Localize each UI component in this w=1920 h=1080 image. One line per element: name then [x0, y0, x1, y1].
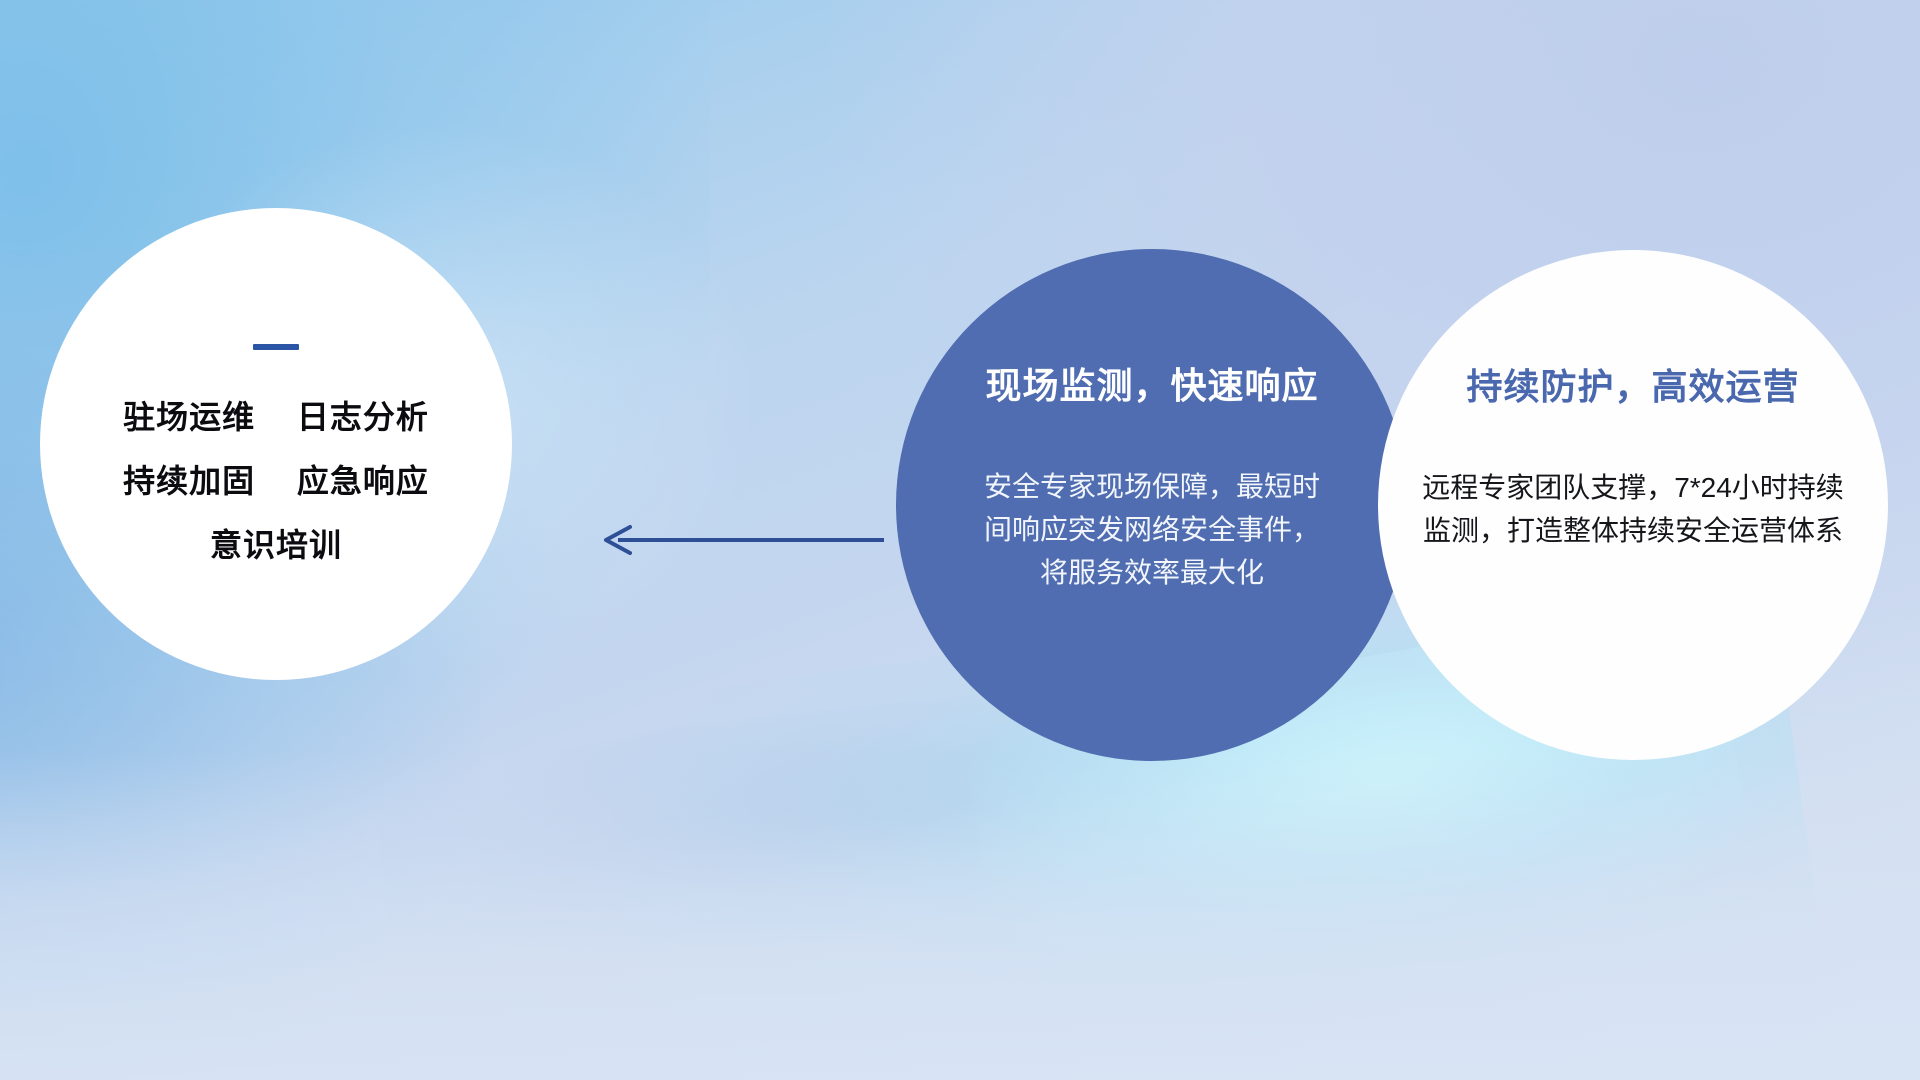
list-item: 意识培训: [210, 520, 342, 566]
short-horizontal-rule-icon: [253, 344, 299, 350]
capability-label: 驻场运维: [123, 399, 255, 435]
background-bottom-fade: [0, 750, 1920, 1080]
left-circle-capability-list: 驻场运维 日志分析 持续加固 应急响应 意识培训: [40, 392, 512, 566]
capability-label: 持续加固: [123, 463, 255, 499]
arrow-left-icon: [596, 522, 884, 558]
capability-label: 意识培训: [210, 527, 342, 563]
list-item: 驻场运维 日志分析: [123, 392, 429, 438]
middle-circle-body: 安全专家现场保障，最短时间响应突发网络安全事件，将服务效率最大化: [982, 465, 1322, 594]
capability-label: 应急响应: [297, 463, 429, 499]
capability-label: 日志分析: [297, 399, 429, 435]
middle-circle-title: 现场监测，快速响应: [985, 357, 1318, 409]
right-circle-body: 远程专家团队支撑，7*24小时持续监测，打造整体持续安全运营体系: [1417, 466, 1849, 552]
middle-circle-content: 现场监测，快速响应 安全专家现场保障，最短时间响应突发网络安全事件，将服务效率最…: [896, 249, 1408, 761]
left-circle-content: 驻场运维 日志分析 持续加固 应急响应 意识培训: [40, 208, 512, 680]
list-item: 持续加固 应急响应: [123, 456, 429, 502]
right-circle-title: 持续防护，高效运营: [1466, 358, 1799, 410]
right-circle-content: 持续防护，高效运营 远程专家团队支撑，7*24小时持续监测，打造整体持续安全运营…: [1378, 250, 1888, 760]
